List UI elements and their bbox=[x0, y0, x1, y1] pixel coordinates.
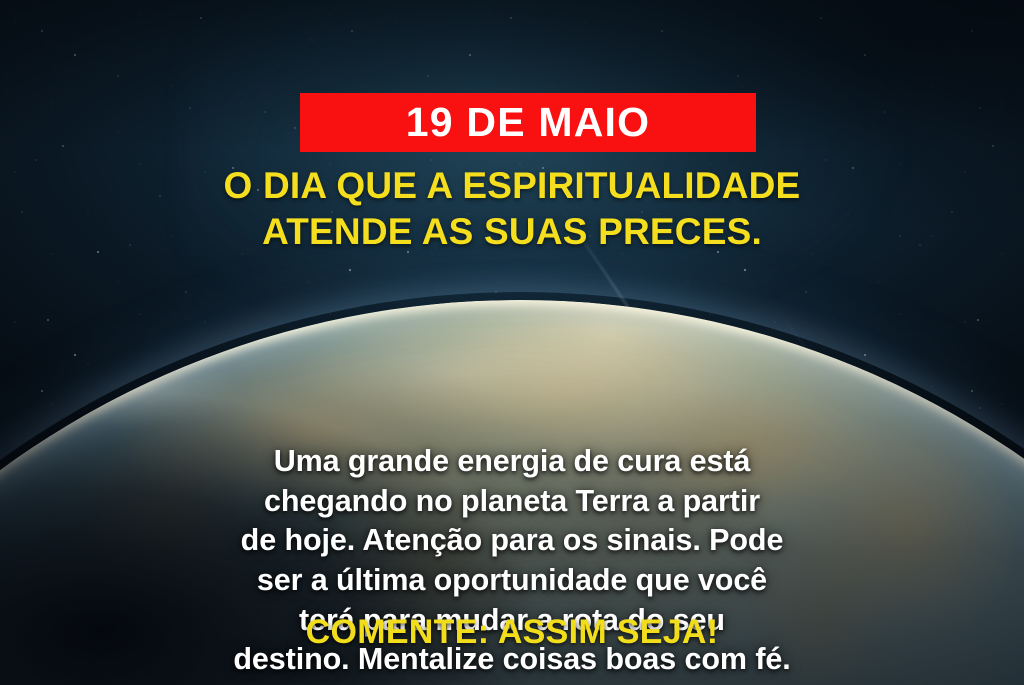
body-line-2: chegando no planeta Terra a partir bbox=[24, 482, 1000, 522]
body-line-1: Uma grande energia de cura está bbox=[24, 442, 1000, 482]
headline-line-2: ATENDE AS SUAS PRECES. bbox=[50, 209, 974, 255]
body-line-4: ser a última oportunidade que você bbox=[24, 561, 1000, 601]
poster-content: 19 DE MAIO O DIA QUE A ESPIRITUALIDADE A… bbox=[0, 0, 1024, 685]
headline-line-1: O DIA QUE A ESPIRITUALIDADE bbox=[50, 163, 974, 209]
headline: O DIA QUE A ESPIRITUALIDADE ATENDE AS SU… bbox=[50, 163, 974, 255]
poster-image: 19 DE MAIO O DIA QUE A ESPIRITUALIDADE A… bbox=[0, 0, 1024, 685]
date-banner-text: 19 DE MAIO bbox=[406, 102, 650, 143]
date-banner: 19 DE MAIO bbox=[300, 93, 756, 152]
body-line-3: de hoje. Atenção para os sinais. Pode bbox=[24, 521, 1000, 561]
call-to-action-text: COMENTE: ASSIM SEJA! bbox=[24, 614, 1000, 651]
